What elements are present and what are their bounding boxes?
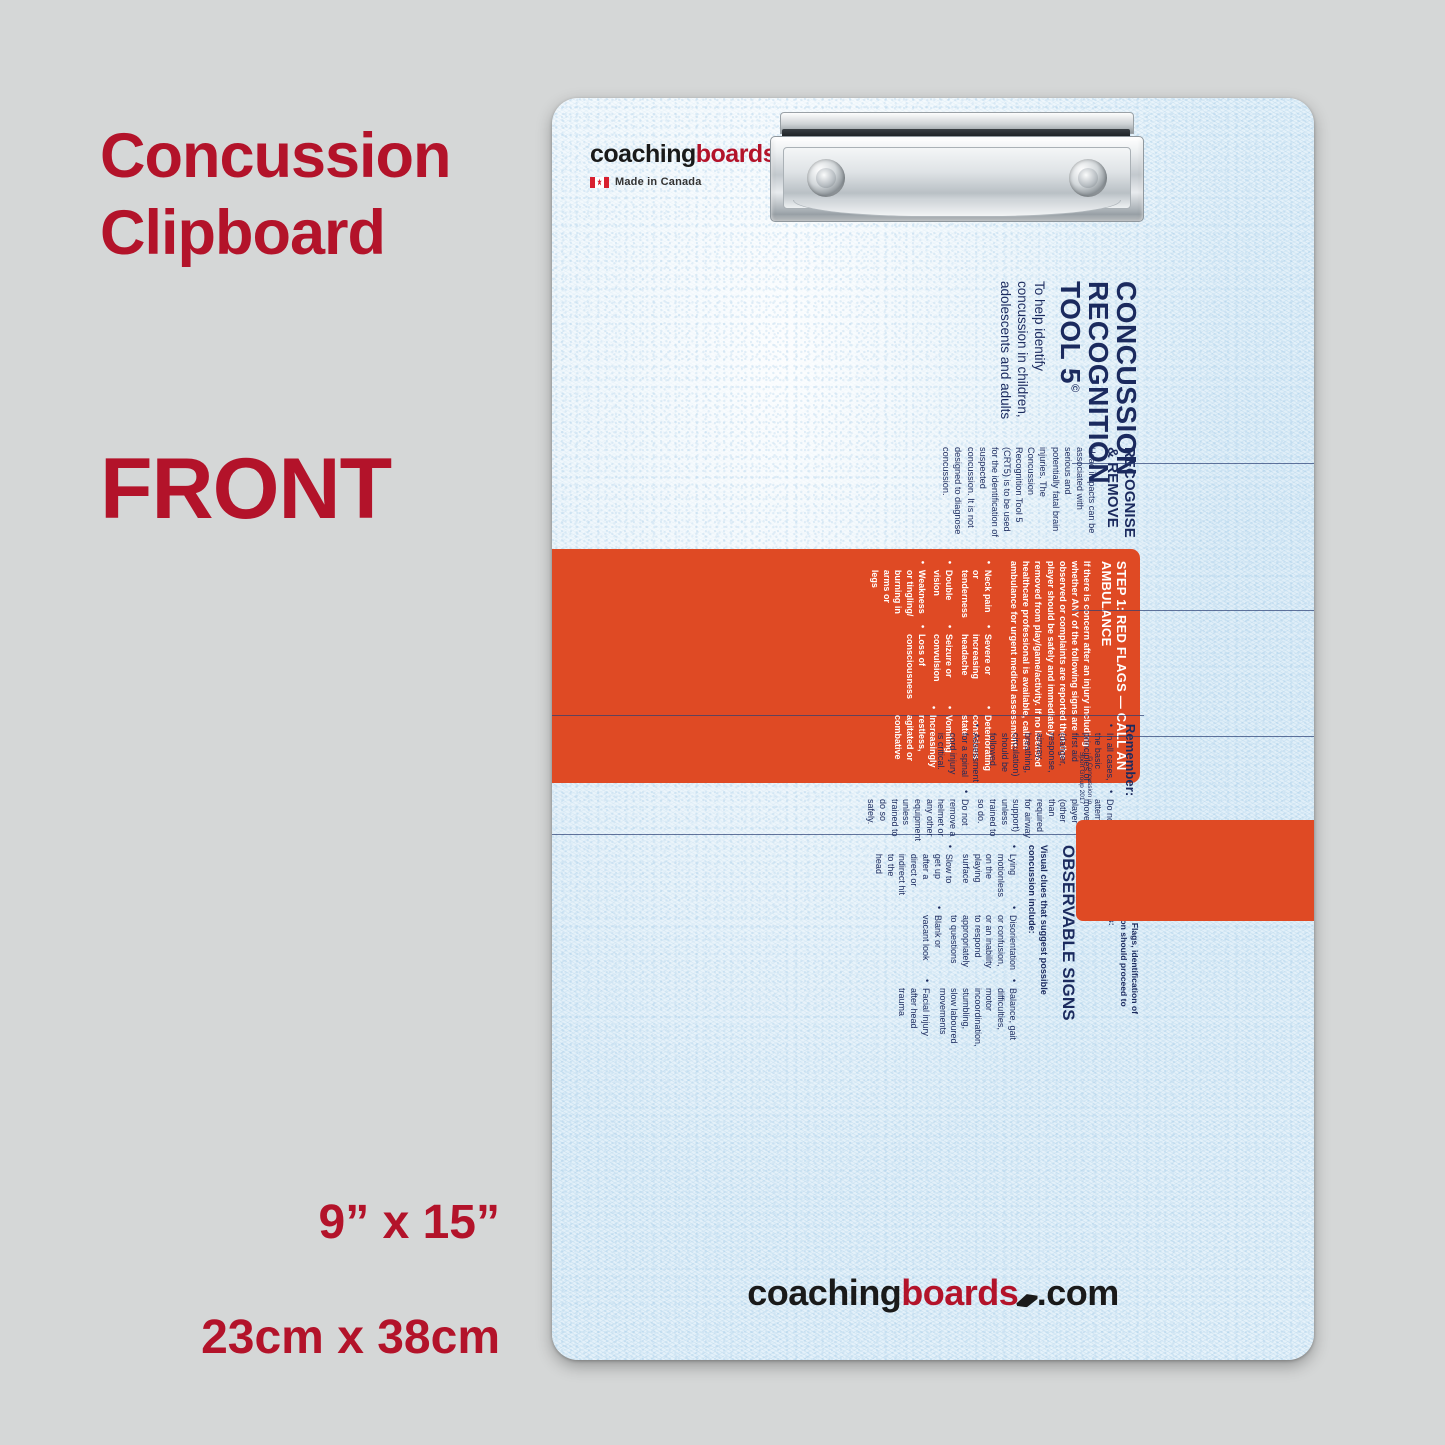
brand-part-1: coaching xyxy=(590,140,696,168)
list-item: Seizure or convulsion xyxy=(931,625,954,699)
made-in-canada-label: Made in Canada xyxy=(615,176,702,188)
step1-column-1: Neck pain or tendernessDouble visionWeak… xyxy=(864,561,993,618)
step2-column-3: Balance, gait difficulties, motor incoor… xyxy=(867,979,1017,1047)
product-info-panel: Concussion Clipboard FRONT 9” x 15” 23cm… xyxy=(0,0,545,1445)
step1-column-2: Severe or increasing headacheSeizure or … xyxy=(864,625,993,699)
brand-part-2: boards xyxy=(696,140,776,168)
swoosh-icon-bottom xyxy=(1015,1292,1039,1309)
list-item: Lying motionless on the playing surface xyxy=(959,845,1017,897)
list-item: Weakness or tingling/ burning in arms or… xyxy=(868,561,926,618)
list-item: Increasingly restless, agitated or comba… xyxy=(892,706,939,771)
clipboard-product-image: coachingboards.com Made in Canada CONCUS… xyxy=(552,98,1314,1360)
brand-bottom-part-1: coaching xyxy=(747,1272,901,1313)
list-item: Slow to get up after a direct or indirec… xyxy=(872,845,954,897)
step2-column-1: Lying motionless on the playing surfaceS… xyxy=(867,845,1017,897)
canada-flag-icon xyxy=(590,177,609,188)
clip-rivet-right xyxy=(1069,159,1107,197)
product-title-line2: Clipboard xyxy=(100,195,520,272)
page-title: Concussion Clipboard xyxy=(100,118,520,272)
clip-rivet-left xyxy=(807,159,845,197)
step2-column-2: Disorientation or confusion, or an inabi… xyxy=(867,906,1017,970)
list-item: Do not remove a helmet or any other equi… xyxy=(865,790,970,841)
dimensions-metric: 23cm x 38cm xyxy=(60,1310,500,1365)
list-item: Assessment for a spinal cord injury is c… xyxy=(935,724,982,782)
product-title-line1: Concussion xyxy=(100,118,520,195)
brand-logo-bottom: coachingboards.com xyxy=(552,1272,1314,1314)
list-item: Disorientation or confusion, or an inabi… xyxy=(948,906,1018,970)
clip-lip xyxy=(793,200,1121,217)
crt5-copyright-bottom: © Concussion in Sport Group 2017 xyxy=(1076,747,1093,804)
brand-bottom-part-2: boards xyxy=(901,1272,1018,1313)
crt5-subtitle: To help identify concussion in children,… xyxy=(996,281,1047,435)
made-in-canada-badge: Made in Canada xyxy=(590,176,702,188)
list-item: Neck pain or tenderness xyxy=(958,561,993,618)
board-side-label: FRONT xyxy=(100,440,520,539)
list-item: Balance, gait difficulties, motor incoor… xyxy=(936,979,1018,1047)
clip-body xyxy=(770,136,1144,222)
clipboard-clip[interactable] xyxy=(770,112,1142,222)
crt5-lower-content: STEP 3: SYMPTOMS Headache"Pressure in he… xyxy=(1072,281,1314,746)
list-item: Double vision xyxy=(931,561,954,618)
dimensions-inches: 9” x 15” xyxy=(100,1195,500,1250)
list-item: Loss of consciousness xyxy=(903,625,926,699)
list-item: Severe or increasing headache xyxy=(958,625,993,699)
crt5-upper-content: CONCUSSION RECOGNITION TOOL 5© To help i… xyxy=(552,281,1144,746)
final-warning-box: ANY ATHLETE WITH A SUSPECTED CONCUSSION … xyxy=(1076,820,1314,921)
list-item: Facial injury after head trauma xyxy=(896,979,931,1047)
brand-bottom-part-3: .com xyxy=(1037,1272,1119,1313)
step2-lead: Visual clues that suggest possible concu… xyxy=(1026,845,1050,1021)
list-item: Blank or vacant look xyxy=(919,906,942,970)
